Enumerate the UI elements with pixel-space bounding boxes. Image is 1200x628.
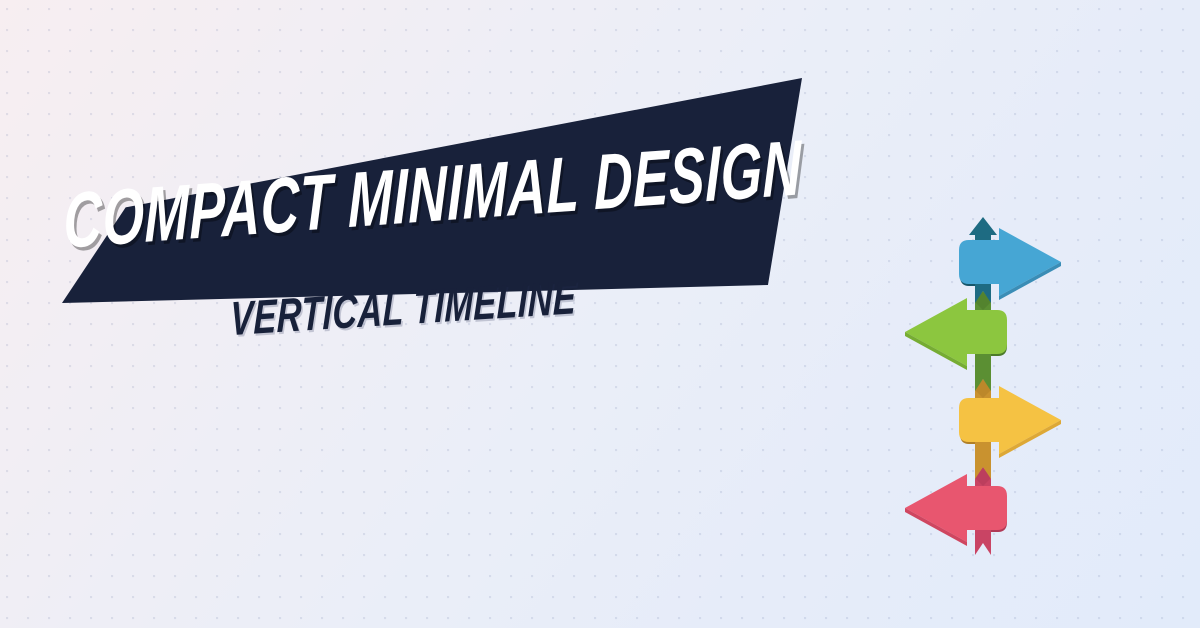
timeline-step-pink[interactable] (905, 467, 1007, 555)
vertical-timeline-graphic (880, 205, 1090, 575)
timeline-step-green[interactable] (905, 291, 1007, 391)
timeline-step-yellow[interactable] (959, 379, 1061, 479)
title-banner: COMPACT MINIMAL DESIGN (62, 78, 802, 303)
page-title: COMPACT MINIMAL DESIGN (63, 121, 801, 266)
timeline-step-blue[interactable] (959, 217, 1061, 303)
slide-canvas: COMPACT MINIMAL DESIGN VERTICAL TIMELINE (0, 0, 1200, 628)
